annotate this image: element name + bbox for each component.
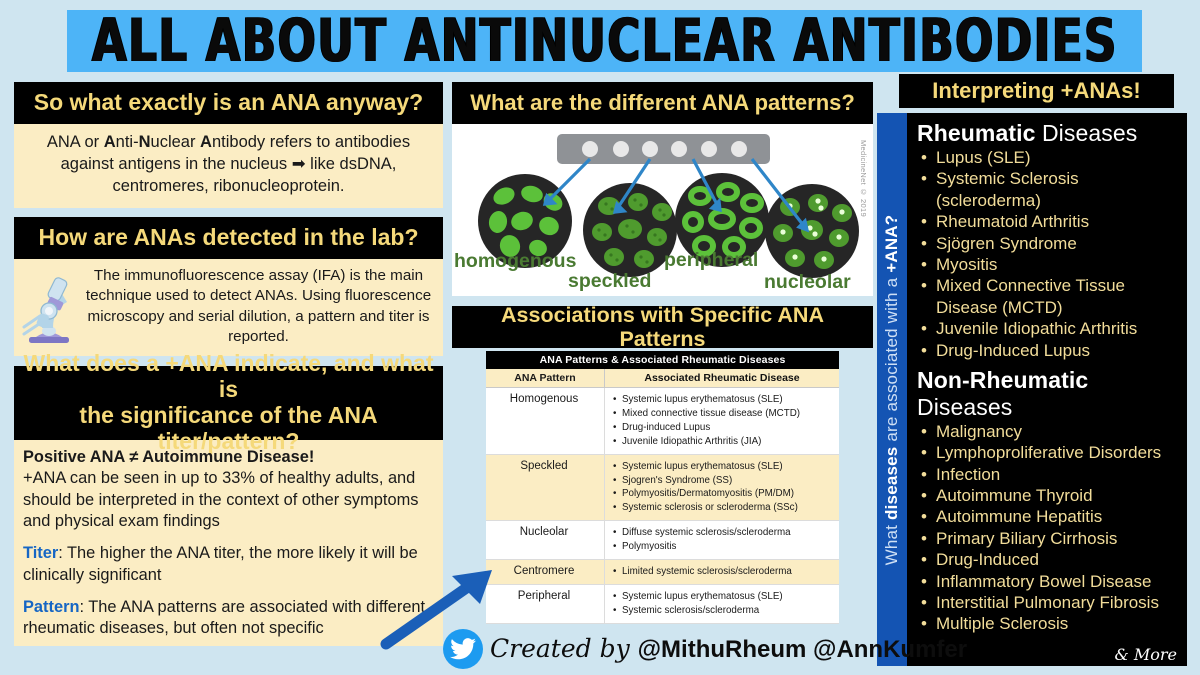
table-row: Peripheral Systemic lupus erythematosus … — [486, 585, 839, 624]
row-pattern-name: Homogenous — [486, 388, 604, 454]
list-item: Limited systemic sclerosis/scleroderma — [613, 565, 837, 579]
list-item: Drug-induced Lupus — [613, 421, 837, 435]
list-item: Polymyositis/Dermatomyositis (PM/DM) — [613, 487, 837, 501]
non-rheumatic-bold: Non-Rheumatic — [917, 367, 1088, 393]
section-header-interpreting-anas: Interpreting +ANAs! — [899, 74, 1174, 108]
non-rheumatic-light: Diseases — [917, 394, 1012, 420]
list-item: Systemic Sclerosis — [917, 169, 1183, 189]
left-column: So what exactly is an ANA anyway? ANA or… — [14, 82, 443, 646]
list-item: Juvenile Idiopathic Arthritis — [917, 319, 1183, 339]
section-header-ana-patterns: What are the different ANA patterns? — [452, 82, 873, 124]
title-banner: ALL ABOUT ANTINUCLEAR ANTIBODIES — [67, 10, 1142, 72]
pattern-label: Pattern — [23, 598, 79, 616]
list-item: Lupus (SLE) — [917, 148, 1183, 168]
author-handles: @MithuRheum @AnnKumfer — [638, 636, 967, 663]
middle-column: What are the different ANA patterns? — [452, 82, 873, 624]
detect-body-text: The immunofluorescence assay (IFA) is th… — [84, 266, 433, 348]
table-row: Nucleolar Diffuse systemic sclerosis/scl… — [486, 521, 839, 560]
list-item-continuation: Disease (MCTD) — [917, 298, 1183, 318]
section-header-associations: Associations with Specific ANA Patterns — [452, 306, 873, 348]
section-header-how-detected: How are ANAs detected in the lab? — [14, 217, 443, 259]
ana-pattern-illustration: MedicineNet © 2019 homogenous speckled p… — [452, 124, 873, 296]
list-item: Malignancy — [917, 422, 1183, 442]
and-more-note: & More — [1115, 645, 1177, 664]
list-item: Drug-Induced — [917, 550, 1183, 570]
row-disease-cell: Systemic lupus erythematosus (SLE) Mixed… — [604, 388, 839, 454]
rheumatic-diseases-title: Rheumatic Diseases — [917, 120, 1183, 147]
vtext-mid: are associated with a — [882, 272, 901, 446]
row-pattern-name: Centromere — [486, 560, 604, 584]
ana-pattern-svg — [452, 124, 873, 296]
row-disease-cell: Systemic lupus erythematosus (SLE) Syste… — [604, 585, 839, 623]
pattern-paragraph: Pattern: The ANA patterns are associated… — [23, 597, 433, 640]
non-rheumatic-diseases-title: Non-Rheumatic Diseases — [917, 367, 1183, 421]
list-item: Infection — [917, 465, 1183, 485]
pattern-body: : The ANA patterns are associated with d… — [23, 598, 425, 637]
indicate-lead-paragraph: Positive ANA ≠ Autoimmune Disease! +ANA … — [23, 447, 433, 532]
right-panel: What diseases are associated with a +ANA… — [877, 113, 1187, 666]
list-item: Myositis — [917, 255, 1183, 275]
titer-paragraph: Titer: The higher the ANA titer, the mor… — [23, 543, 433, 586]
section-header-ana-significance: What does a +ANA indicate, and what is t… — [14, 366, 443, 440]
table-column-header-row: ANA Pattern Associated Rheumatic Disease — [486, 369, 839, 388]
list-item: Systemic lupus erythematosus (SLE) — [613, 460, 837, 474]
positive-ana-statement: Positive ANA ≠ Autoimmune Disease! — [23, 448, 314, 466]
row-disease-cell: Systemic lupus erythematosus (SLE) Sjogr… — [604, 455, 839, 521]
titer-label: Titer — [23, 544, 58, 562]
credits: Created by @MithuRheum @AnnKumfer — [443, 629, 967, 669]
list-item: Diffuse systemic sclerosis/scleroderma — [613, 526, 837, 540]
vtext-bold-ana: +ANA? — [882, 214, 901, 272]
ana-mid-2: uclear — [151, 133, 201, 151]
list-item: Sjögren Syndrome — [917, 234, 1183, 254]
rheumatic-light: Diseases — [1035, 120, 1137, 146]
credit-text: Created by @MithuRheum @AnnKumfer — [490, 634, 967, 664]
list-item: Systemic sclerosis or scleroderma (SSc) — [613, 501, 837, 515]
ana-bold-a1: A — [104, 133, 116, 151]
ana-associations-table: ANA Patterns & Associated Rheumatic Dise… — [486, 351, 839, 624]
ana-bold-a2: A — [200, 133, 212, 151]
titer-body: : The higher the ANA titer, the more lik… — [23, 544, 418, 583]
non-rheumatic-disease-list: Malignancy Lymphoproliferative Disorders… — [917, 422, 1183, 635]
list-item: Juvenile Idiopathic Arthritis (JIA) — [613, 435, 837, 449]
section-body-ana-significance: Positive ANA ≠ Autoimmune Disease! +ANA … — [14, 440, 443, 646]
list-item-continuation: (scleroderma) — [917, 191, 1183, 211]
microscope-icon — [18, 268, 80, 346]
row-pattern-name: Speckled — [486, 455, 604, 521]
indicate-header-line1: What does a +ANA indicate, and what is — [22, 351, 435, 403]
column-header-associated-disease: Associated Rheumatic Disease — [604, 369, 839, 387]
list-item: Drug-Induced Lupus — [917, 341, 1183, 361]
section-body-what-is-ana: ANA or Anti-Nuclear Antibody refers to a… — [14, 124, 443, 208]
list-item: Systemic sclerosis/scleroderma — [613, 604, 837, 618]
rheumatic-disease-list: Lupus (SLE) Systemic Sclerosis (sclerode… — [917, 148, 1183, 361]
section-header-what-is-ana: So what exactly is an ANA anyway? — [14, 82, 443, 124]
ana-text-prefix: ANA or — [47, 133, 104, 151]
vertical-question-text: What diseases are associated with a +ANA… — [882, 214, 902, 565]
indicate-lead-body: +ANA can be seen in up to 33% of healthy… — [23, 469, 418, 530]
row-pattern-name: Nucleolar — [486, 521, 604, 559]
list-item: Mixed connective tissue disease (MCTD) — [613, 407, 837, 421]
vertical-question-bar: What diseases are associated with a +ANA… — [877, 113, 907, 666]
row-pattern-name: Peripheral — [486, 585, 604, 623]
section-body-how-detected: The immunofluorescence assay (IFA) is th… — [14, 259, 443, 356]
twitter-bird-glyph — [450, 638, 476, 660]
row-disease-cell: Diffuse systemic sclerosis/scleroderma P… — [604, 521, 839, 559]
list-item: Inflammatory Bowel Disease — [917, 572, 1183, 592]
list-item: Interstitial Pulmonary Fibrosis — [917, 593, 1183, 613]
list-item: Primary Biliary Cirrhosis — [917, 529, 1183, 549]
disease-lists: Rheumatic Diseases Lupus (SLE) Systemic … — [907, 113, 1187, 666]
table-title: ANA Patterns & Associated Rheumatic Dise… — [486, 351, 839, 369]
table-row: Homogenous Systemic lupus erythematosus … — [486, 388, 839, 455]
list-item: Systemic lupus erythematosus (SLE) — [613, 590, 837, 604]
table-row-centromere: Centromere Limited systemic sclerosis/sc… — [486, 560, 839, 585]
list-item: Systemic lupus erythematosus (SLE) — [613, 393, 837, 407]
created-by-label: Created by — [490, 634, 638, 663]
row-disease-cell: Limited systemic sclerosis/scleroderma — [604, 560, 839, 584]
twitter-bird-icon[interactable] — [443, 629, 483, 669]
list-item: Polymyositis — [613, 540, 837, 554]
list-item: Autoimmune Hepatitis — [917, 507, 1183, 527]
table-row: Speckled Systemic lupus erythematosus (S… — [486, 455, 839, 522]
vtext-pre: What — [882, 519, 901, 564]
page-title: ALL ABOUT ANTINUCLEAR ANTIBODIES — [92, 7, 1118, 76]
list-item: Sjogren's Syndrome (SS) — [613, 474, 837, 488]
list-item: Lymphoproliferative Disorders — [917, 443, 1183, 463]
column-header-ana-pattern: ANA Pattern — [486, 369, 604, 387]
vtext-bold-diseases: diseases — [882, 446, 901, 519]
list-item: Autoimmune Thyroid — [917, 486, 1183, 506]
list-item: Rheumatoid Arthritis — [917, 212, 1183, 232]
image-watermark: MedicineNet © 2019 — [859, 140, 868, 217]
list-item: Mixed Connective Tissue — [917, 276, 1183, 296]
rheumatic-bold: Rheumatic — [917, 120, 1035, 146]
ana-mid-1: nti- — [116, 133, 139, 151]
ana-bold-n: N — [139, 133, 151, 151]
